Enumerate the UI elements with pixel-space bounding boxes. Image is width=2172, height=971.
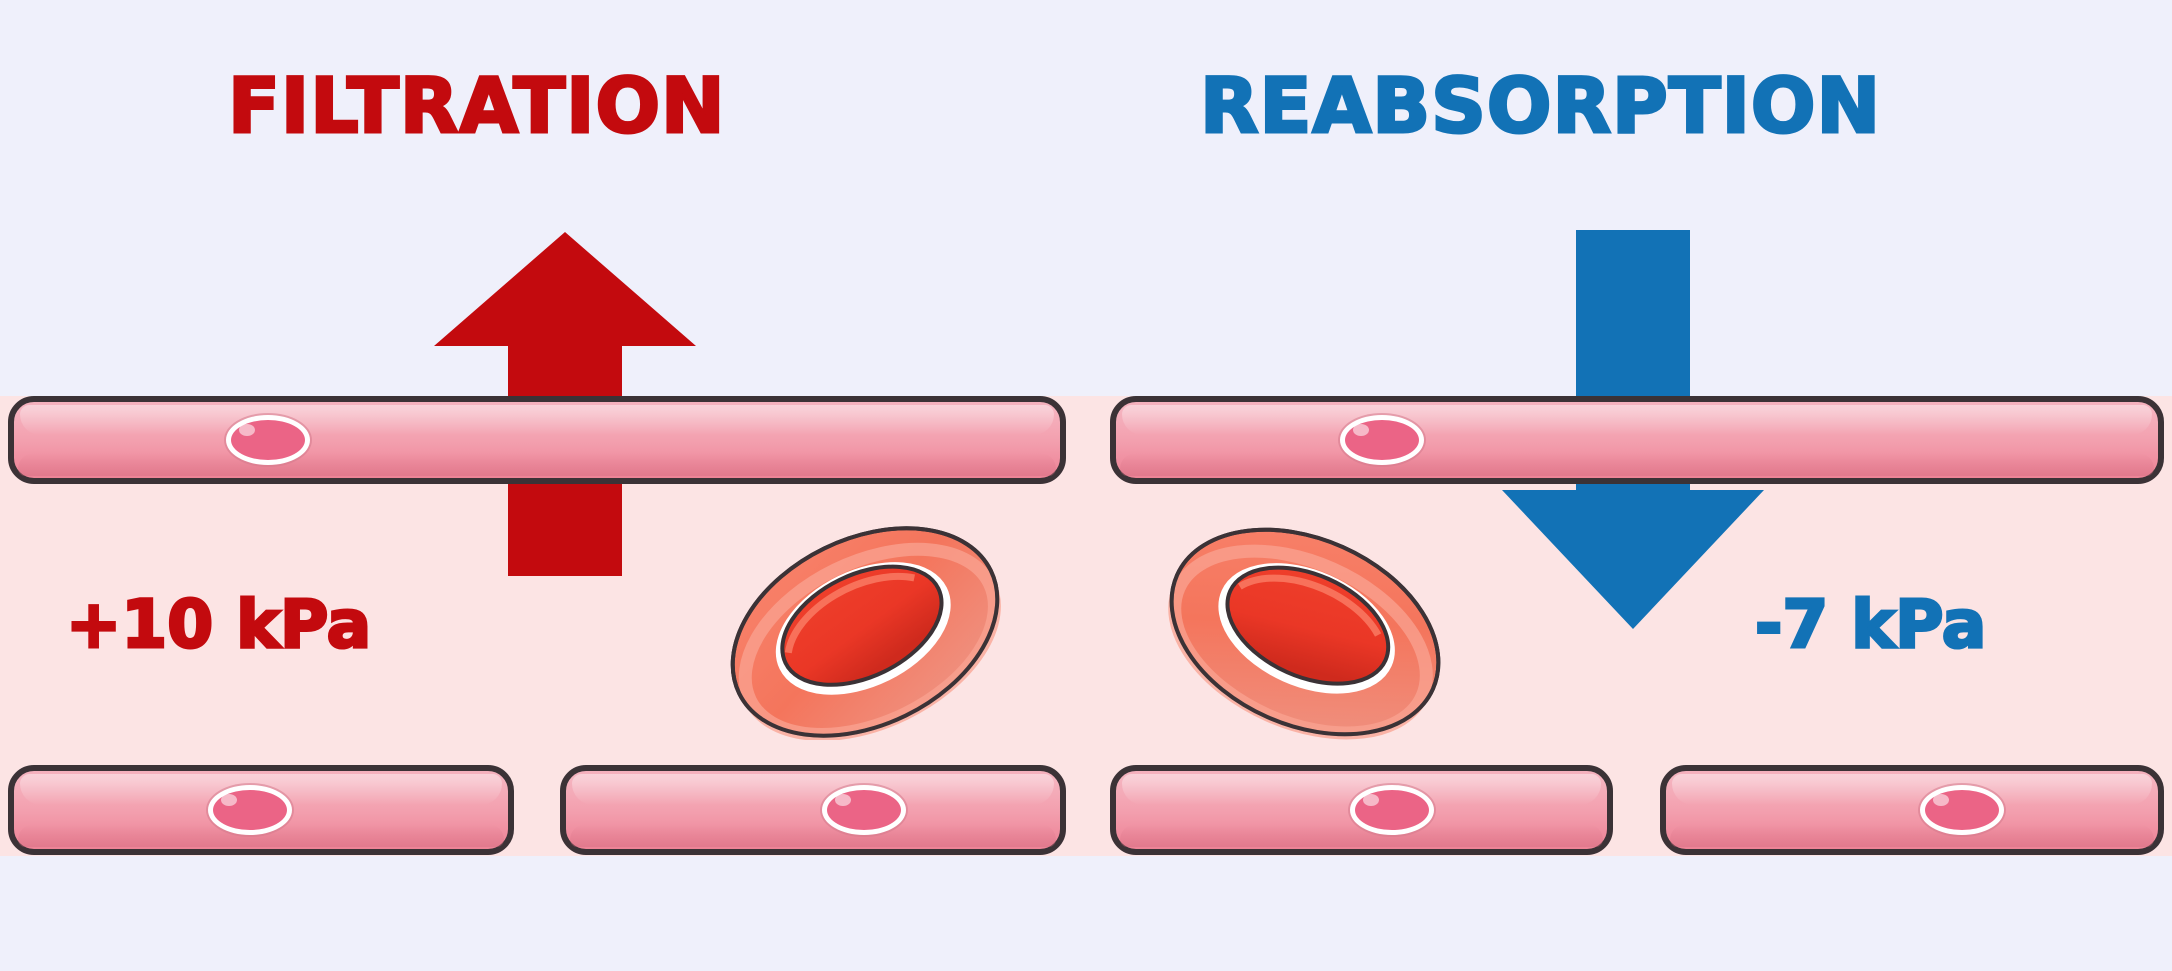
cell-nucleus bbox=[226, 415, 310, 465]
endothelial-cell-bottom-4 bbox=[1660, 765, 2164, 855]
cell-nucleus bbox=[1350, 785, 1434, 835]
endothelial-cell-bottom-2 bbox=[560, 765, 1066, 855]
endothelial-cell-bottom-3 bbox=[1110, 765, 1613, 855]
capillary-exchange-diagram: FILTRATION REABSORPTION +10 kPa -7 kPa bbox=[0, 0, 2172, 971]
cell-nucleus bbox=[822, 785, 906, 835]
cell-nucleus bbox=[208, 785, 292, 835]
filtration-pressure-label: +10 kPa bbox=[66, 592, 371, 658]
cell-nucleus bbox=[1920, 785, 2004, 835]
reabsorption-title: REABSORPTION bbox=[1200, 68, 1881, 144]
filtration-title: FILTRATION bbox=[228, 68, 726, 144]
cell-nucleus bbox=[1340, 415, 1424, 465]
reabsorption-pressure-label: -7 kPa bbox=[1755, 592, 1986, 658]
endothelial-cell-bottom-1 bbox=[8, 765, 514, 855]
endothelial-cell-top-1 bbox=[8, 396, 1066, 484]
red-blood-cell-left bbox=[715, 525, 1015, 740]
endothelial-cell-top-2 bbox=[1110, 396, 2164, 484]
red-blood-cell-right bbox=[1155, 525, 1455, 740]
